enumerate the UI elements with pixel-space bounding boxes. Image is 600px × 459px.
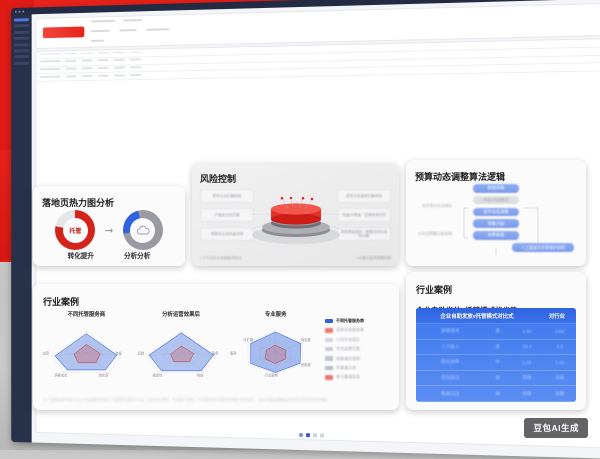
window-dot-icon xyxy=(15,10,17,12)
svg-text:响应度: 响应度 xyxy=(301,337,312,342)
table-cell: 中 xyxy=(485,359,511,365)
table-header-cell: 企业自助发放v托管模式对比式 xyxy=(416,312,538,320)
dashboard-highlight-chip[interactable] xyxy=(43,26,84,38)
legend-label: 效果调优周期 xyxy=(336,356,360,362)
legend-label: 公司专业团队 xyxy=(336,337,360,343)
table-cell: 完整 xyxy=(543,391,576,397)
table-cell xyxy=(130,74,141,76)
svg-text:获客成本: 获客成本 xyxy=(54,373,68,378)
dashboard-sidebar[interactable] xyxy=(11,14,31,442)
risk-footnote-left: • 十行业化大站投放风险点 xyxy=(200,256,242,261)
svg-text:可扩展: 可扩展 xyxy=(244,337,255,342)
table-cell xyxy=(40,60,61,62)
svg-text:品牌: 品牌 xyxy=(137,350,144,355)
legend-swatch xyxy=(325,347,333,351)
table-cell: 高 xyxy=(485,344,511,350)
dashboard-placeholder-line xyxy=(146,28,169,31)
table-cell: 获客成本 xyxy=(416,328,485,334)
donut-conversion: 托管 xyxy=(55,210,95,250)
svg-text:创意: 创意 xyxy=(43,350,50,355)
table-row: 获客成本 高 1.95 0.68 xyxy=(416,324,576,340)
table-cell xyxy=(130,59,141,61)
table-cell xyxy=(114,67,125,69)
table-cell: 0.68 xyxy=(543,329,576,334)
dashboard-pagination[interactable] xyxy=(36,426,600,445)
donut-analysis xyxy=(123,210,163,250)
svg-text:行业案例: 行业案例 xyxy=(265,373,279,378)
radar-title-1: 不同托管服务商 xyxy=(41,310,132,318)
legend-item: 专业运营托管 xyxy=(325,346,391,352)
card-comparison-table: 行业案例 企业自助发放v托管模式优劣势 企业自助发放v托管模式对比式 对行业 获… xyxy=(406,272,586,410)
table-cell xyxy=(98,67,109,69)
table-row: 转化效率 中 1.25 1.42 xyxy=(416,355,576,371)
radar-svg-2: 品牌 服务 稳定性 响应 xyxy=(136,319,227,383)
legend-item: 新兴渠道投放 xyxy=(325,374,391,380)
svg-text:服务: 服务 xyxy=(230,350,237,355)
table-cell: 日级 xyxy=(543,375,576,381)
risk-label-right-1: 恶意点击监控拦截机制 xyxy=(337,189,391,203)
radar-chart-1: 不同托管服务商 创意 流量 获客成本 转化率 xyxy=(41,310,132,384)
table-cell: 有限 xyxy=(511,391,544,397)
pagination-dot[interactable] xyxy=(313,433,317,437)
card-heatmap-title: 落地页热力图分析 xyxy=(42,198,114,208)
radar-chart-2: 分析运营效果后 品牌 服务 稳定性 响应 xyxy=(136,310,227,384)
legend-swatch xyxy=(325,328,333,332)
table-cell: 4.6 xyxy=(543,344,576,349)
table-cell: 优化频次 xyxy=(416,375,485,381)
sidebar-item[interactable] xyxy=(14,24,29,27)
table-cell xyxy=(81,60,92,62)
legend-swatch xyxy=(325,356,333,360)
table-cell xyxy=(65,75,76,77)
sidebar-item[interactable] xyxy=(14,37,29,40)
legend-item: 公司专业团队 xyxy=(325,337,391,343)
legend-label: 自助式投放效果 xyxy=(336,327,364,333)
card-risk-title: 风险控制 xyxy=(200,174,236,184)
table-cell xyxy=(130,51,141,53)
sidebar-item[interactable] xyxy=(14,49,29,52)
table-cell xyxy=(40,53,61,55)
table-cell xyxy=(65,53,76,55)
table-cell: 高 xyxy=(485,328,511,334)
table-cell xyxy=(40,68,61,70)
window-dot-icon xyxy=(19,10,21,12)
radar-legend: 不同托管服务商 自助式投放效果 公司专业团队 专业运营托管 效果调优周期 xyxy=(325,310,391,384)
table-row: 优化频次 低 周级 日级 xyxy=(416,371,576,387)
table-cell: 弱 xyxy=(485,391,511,397)
radar-svg-3: 服务 可扩展 响应度 优质度 行业案例 xyxy=(230,319,321,383)
legend-label: 不同托管服务商 xyxy=(336,318,364,324)
table-row: 数据沉淀 弱 有限 完整 xyxy=(416,386,576,402)
card-industry-radar: 行业案例 不同托管服务商 创意 流量 获客成本 xyxy=(33,284,399,410)
legend-item: 效果调优周期 xyxy=(325,356,391,362)
table-cell xyxy=(114,74,125,76)
table-cell xyxy=(81,67,92,69)
card-table-header: 行业案例 xyxy=(406,272,586,298)
dashboard-placeholder-line xyxy=(91,30,110,32)
table-cell xyxy=(81,52,92,54)
radar-svg-1: 创意 流量 获客成本 转化率 xyxy=(41,319,132,383)
risk-label-right-3: 风险等级规则 · 数据回流与追踪诊断 xyxy=(337,227,391,241)
radar-chart-3: 专业服务 服务 可扩展 响应度 优质度 行业案例 xyxy=(230,310,321,384)
dashboard-placeholder-line xyxy=(123,19,142,21)
legend-swatch xyxy=(325,366,333,370)
heatmap-label-right: 分析分析 xyxy=(124,250,150,260)
card-radar-header: 行业案例 xyxy=(33,284,399,310)
dashboard-placeholder-line xyxy=(119,29,136,31)
table-cell: 18.4 xyxy=(511,344,544,349)
pagination-dot[interactable] xyxy=(299,433,303,437)
risk-footnote-right: • 托管式监测预警机制 xyxy=(356,256,391,261)
card-table-title: 行业案例 xyxy=(416,285,452,295)
legend-swatch xyxy=(325,375,333,379)
card-dashboard-screenshot xyxy=(0,0,180,96)
legend-item: 自助式投放效果 xyxy=(325,327,391,333)
table-cell: 转化效率 xyxy=(416,359,485,365)
table-header-cell: 对行业 xyxy=(538,312,576,320)
table-cell xyxy=(81,75,92,77)
heatmap-labels: 转化提升 分析分析 xyxy=(33,250,185,260)
table-cell: 1.95 xyxy=(511,329,544,334)
risk-label-left-2: 产能走点击拦截 xyxy=(200,208,254,222)
table-cell xyxy=(98,59,109,61)
table-cell: 低 xyxy=(485,375,511,381)
card-risk-control: 风险控制 恶意点击拦截机制 产能走点击拦截 预算及无效流量控制 恶意点击监控拦截… xyxy=(192,163,399,266)
card-risk-header: 风险控制 xyxy=(192,163,399,187)
radar-title-2: 分析运营效果后 xyxy=(136,310,227,318)
table-cell: 人力投入 xyxy=(416,344,485,350)
sidebar-item[interactable] xyxy=(14,43,29,46)
risk-label-left-1: 恶意点击拦截机制 xyxy=(200,189,254,203)
legend-item: 多渠道达成 xyxy=(325,365,391,371)
legend-item: 不同托管服务商 xyxy=(325,318,391,324)
table-cell: 数据沉淀 xyxy=(416,391,485,397)
table-cell xyxy=(130,66,141,68)
risk-footnotes: • 十行业化大站投放风险点 • 托管式监测预警机制 xyxy=(200,256,391,261)
comparison-table: 企业自助发放v托管模式对比式 对行业 获客成本 高 1.95 0.68 人力投入… xyxy=(416,308,576,402)
pagination-dot-active[interactable] xyxy=(305,433,309,437)
pagination-dot[interactable] xyxy=(320,434,324,438)
legend-label: 多渠道达成 xyxy=(336,365,356,371)
table-cell xyxy=(65,68,76,70)
heatmap-rings: 托管 ➞ xyxy=(33,210,185,250)
legend-label: 专业运营托管 xyxy=(336,346,360,352)
dashboard-placeholder-line xyxy=(91,20,116,23)
table-cell: 1.42 xyxy=(543,360,576,365)
risk-label-right-2: 流量/分等级 · 异常检测识别 xyxy=(337,208,391,222)
svg-text:响应: 响应 xyxy=(197,373,204,378)
donut-center-label: 托管 xyxy=(69,226,81,235)
card-budget-algorithm: 预算动态调整算法逻辑 数据采集 特征归因模型 出价动态调整 预算分配 效果复盘 … xyxy=(406,160,586,266)
cloud-icon xyxy=(136,225,150,235)
watermark: 豆包AI生成 xyxy=(524,418,588,438)
table-cell xyxy=(114,51,125,53)
heatmap-label-left: 转化提升 xyxy=(68,250,94,260)
sidebar-item[interactable] xyxy=(14,55,29,58)
radar-title-3: 专业服务 xyxy=(230,310,321,318)
table-cell xyxy=(40,76,61,78)
svg-text:优质度: 优质度 xyxy=(301,362,312,367)
sidebar-item[interactable] xyxy=(14,61,29,64)
table-cell: 1.25 xyxy=(511,360,544,365)
dashboard-placeholder-line xyxy=(91,40,104,42)
poster-canvas: 竞价托管真的能提升转化率吗 托管前后 — CTR/PC/转化率 600 500 … xyxy=(0,0,600,450)
table-row: 人力投入 高 18.4 4.6 xyxy=(416,340,576,356)
table-cell xyxy=(65,60,76,62)
card-radar-title: 行业案例 xyxy=(43,297,79,307)
legend-label: 新兴渠道投放 xyxy=(336,374,360,380)
table-header-row: 企业自助发放v托管模式对比式 对行业 xyxy=(416,308,576,324)
table-cell xyxy=(98,52,109,54)
svg-text:稳定性: 稳定性 xyxy=(152,373,163,378)
legend-swatch xyxy=(325,319,333,323)
table-cell: 周级 xyxy=(511,375,544,381)
svg-text:转化率: 转化率 xyxy=(99,373,110,378)
legend-swatch xyxy=(325,338,333,342)
risk-3d-diagram xyxy=(250,197,342,245)
radar-note: 注：数据来源于各行业公开投放案例及第三方监测平台统计口径，仅作对比参考。不同账户… xyxy=(43,398,389,404)
sidebar-item[interactable] xyxy=(14,18,29,21)
radar-group: 不同托管服务商 创意 流量 获客成本 转化率 xyxy=(33,310,399,384)
card-heatmap-analysis: 落地页热力图分析 托管 ➞ 转化提升 分析分析 xyxy=(33,186,185,266)
window-dot-icon xyxy=(22,10,24,12)
arrow-right-icon: ➞ xyxy=(104,224,113,237)
table-cell xyxy=(114,59,125,61)
card-heatmap-header: 落地页热力图分析 xyxy=(33,186,185,211)
sidebar-item[interactable] xyxy=(14,31,29,34)
flow-connectors xyxy=(406,160,586,266)
risk-label-left-3: 预算及无效流量控制 xyxy=(200,227,254,241)
svg-text:服务: 服务 xyxy=(212,350,219,355)
svg-text:流量: 流量 xyxy=(115,350,122,355)
table-cell xyxy=(98,75,109,77)
